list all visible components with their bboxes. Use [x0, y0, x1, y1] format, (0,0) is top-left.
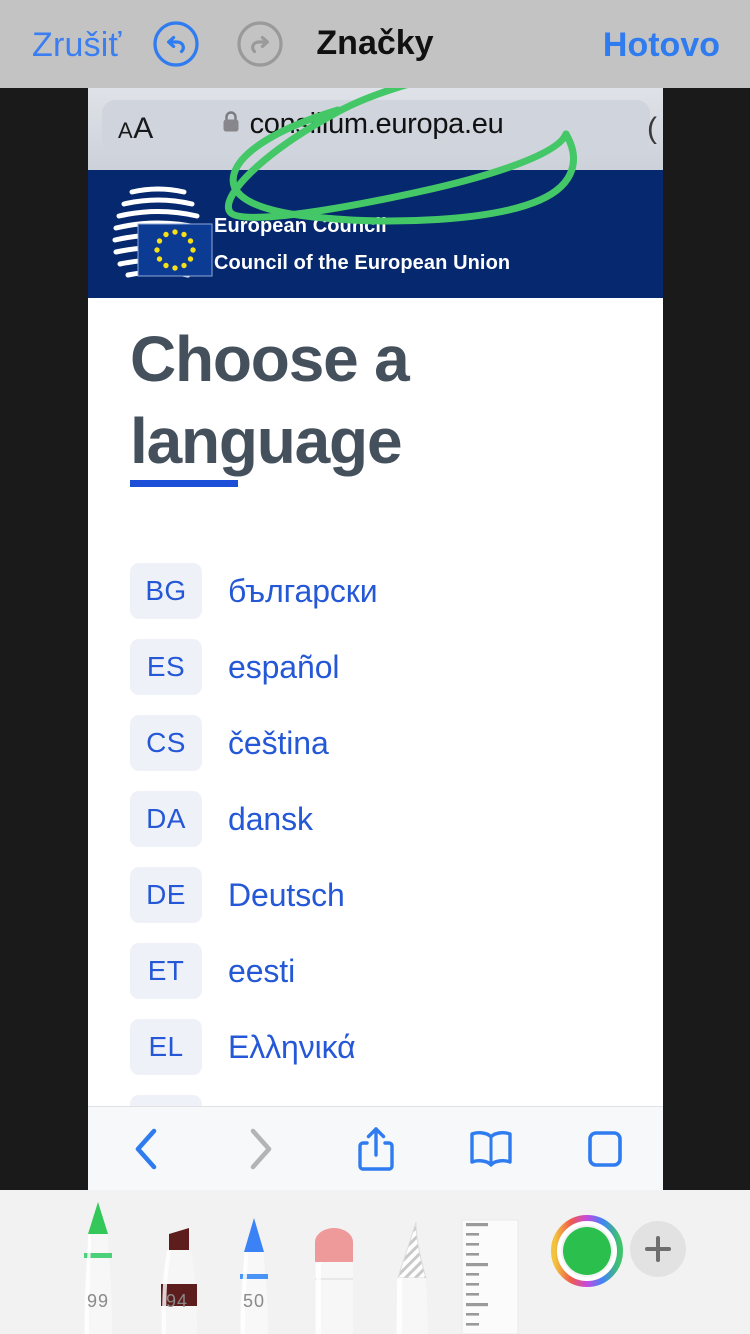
list-item[interactable]: DE Deutsch	[130, 857, 640, 933]
language-name[interactable]: dansk	[228, 801, 313, 838]
markup-toolbar: Zrušiť Značky Hotovo	[0, 0, 750, 88]
list-item[interactable]: DA dansk	[130, 781, 640, 857]
ruler-tool[interactable]	[458, 1214, 536, 1334]
language-list: BG български ES español CS čeština DA da…	[130, 553, 640, 1161]
markup-tool-palette: 99 94 50	[0, 1190, 750, 1334]
bookmarks-button[interactable]	[433, 1129, 548, 1169]
lasso-tool[interactable]	[382, 1220, 444, 1334]
list-item[interactable]: CS čeština	[130, 705, 640, 781]
heading-line-2: language	[130, 400, 630, 482]
tab-overview-edge-icon[interactable]: (	[647, 112, 657, 146]
share-up-icon[interactable]	[318, 1125, 433, 1173]
safari-content-area: AA consilium.europa.eu (	[88, 88, 663, 1190]
language-code: EL	[130, 1019, 202, 1075]
url-text: consilium.europa.eu	[250, 108, 504, 141]
safari-toolbar	[88, 1106, 663, 1190]
pencil-opacity-value: 50	[222, 1291, 286, 1312]
pencil-tool[interactable]: 50	[222, 1212, 286, 1334]
language-name[interactable]: Deutsch	[228, 877, 345, 914]
eu-banner-titles: European Council Council of the European…	[214, 215, 510, 275]
language-code: CS	[130, 715, 202, 771]
banner-line-1: European Council	[214, 215, 510, 238]
list-item[interactable]: ET eesti	[130, 933, 640, 1009]
language-code: DA	[130, 791, 202, 847]
url-display[interactable]: consilium.europa.eu	[88, 108, 636, 141]
heading-block: Choose a language	[130, 318, 630, 487]
language-code: BG	[130, 563, 202, 619]
list-item[interactable]: ES español	[130, 629, 640, 705]
browser-url-bar: AA consilium.europa.eu (	[88, 88, 663, 170]
done-button[interactable]: Hotovo	[603, 26, 720, 65]
list-item[interactable]: EL Ελληνικά	[130, 1009, 640, 1085]
language-name[interactable]: español	[228, 649, 339, 686]
language-name[interactable]: български	[228, 573, 377, 610]
markup-screen: Zrušiť Značky Hotovo AA	[0, 0, 750, 1334]
heading-line-1: Choose a	[130, 318, 630, 400]
eu-council-banner: European Council Council of the European…	[88, 170, 663, 298]
language-code: DE	[130, 867, 202, 923]
eraser-tool[interactable]	[303, 1216, 365, 1334]
language-name[interactable]: čeština	[228, 725, 329, 762]
highlighter-opacity-value: 94	[143, 1291, 211, 1312]
list-item[interactable]: BG български	[130, 553, 640, 629]
language-code: ET	[130, 943, 202, 999]
add-tool-button[interactable]	[630, 1221, 686, 1277]
pen-opacity-value: 99	[64, 1291, 132, 1312]
lock-icon	[221, 110, 241, 139]
back-button[interactable]	[88, 1126, 203, 1172]
language-code: ES	[130, 639, 202, 695]
eu-council-logo	[102, 180, 214, 293]
pen-tool[interactable]: 99	[64, 1200, 132, 1334]
color-picker[interactable]	[551, 1215, 623, 1292]
highlighter-tool[interactable]: 94	[143, 1216, 211, 1334]
language-name[interactable]: Ελληνικά	[228, 1029, 356, 1066]
forward-button	[203, 1126, 318, 1172]
page-content: Choose a language BG български ES españo…	[88, 298, 663, 1190]
language-name[interactable]: eesti	[228, 953, 295, 990]
tabs-button[interactable]	[548, 1128, 663, 1170]
banner-line-2: Council of the European Union	[214, 252, 510, 275]
